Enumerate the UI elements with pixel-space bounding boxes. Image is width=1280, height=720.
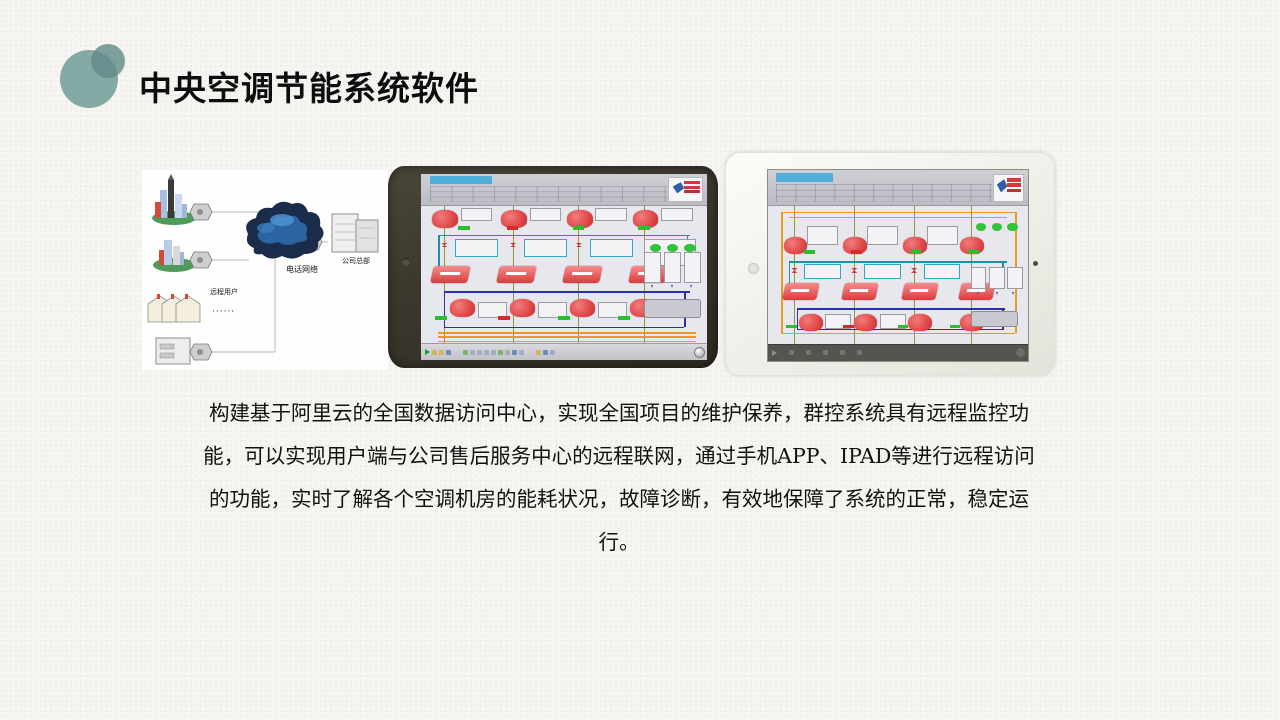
label-cloud: 电话网络 xyxy=(286,264,318,274)
hmi-dial-knob[interactable] xyxy=(694,347,705,358)
run-button[interactable] xyxy=(772,350,777,356)
toolbar-icon-1[interactable] xyxy=(432,350,437,355)
toolbar-icon-11[interactable] xyxy=(512,350,517,355)
toolbar-icon-5[interactable] xyxy=(857,350,862,355)
toolbar-icon-4[interactable] xyxy=(463,350,468,355)
hmi-company-badge xyxy=(993,174,1024,202)
hmi-logo xyxy=(430,176,493,184)
android-tablet-hmi-screenshot xyxy=(388,166,718,368)
remote-access-network-diagram: 电话网络 公司总部 远程用户 ······ xyxy=(142,170,388,370)
toolbar-icon-4[interactable] xyxy=(840,350,845,355)
toolbar-icon-5[interactable] xyxy=(470,350,475,355)
figure-row: 电话网络 公司总部 远程用户 ······ xyxy=(0,0,1280,380)
toolbar-icon-1[interactable] xyxy=(789,350,794,355)
toolbar-icon-2[interactable] xyxy=(439,350,444,355)
ipad-screen[interactable] xyxy=(767,169,1029,362)
hmi-dial-knob[interactable] xyxy=(1015,347,1026,358)
hmi-header-bar xyxy=(421,174,707,206)
toolbar-icon-10[interactable] xyxy=(505,350,510,355)
toolbar-icon-8[interactable] xyxy=(491,350,496,355)
ipad-camera-icon xyxy=(1033,261,1038,266)
label-remote-users: 远程用户 xyxy=(210,287,238,296)
toolbar-icon-7[interactable] xyxy=(484,350,489,355)
hmi-header-grid xyxy=(430,186,667,202)
ipad-home-button[interactable] xyxy=(748,263,759,274)
hmi-logo xyxy=(776,173,833,182)
toolbar-icon-6[interactable] xyxy=(477,350,482,355)
hmi-chiller-plant-diagram xyxy=(421,174,707,360)
toolbar-icon-13[interactable] xyxy=(536,350,541,355)
ipad-hmi-screenshot xyxy=(725,152,1055,376)
toolbar-icon-12[interactable] xyxy=(519,350,524,355)
bird-logo-icon xyxy=(997,179,1008,192)
toolbar-icon-9[interactable] xyxy=(498,350,503,355)
label-headquarters: 公司总部 xyxy=(342,256,370,265)
bird-logo-icon xyxy=(673,182,685,193)
company-headquarters-server xyxy=(332,214,378,252)
toolbar-icon-3[interactable] xyxy=(823,350,828,355)
tablet-home-button[interactable] xyxy=(402,258,410,266)
toolbar-icon-15[interactable] xyxy=(550,350,555,355)
run-button[interactable] xyxy=(425,349,430,355)
hmi-header-bar xyxy=(768,170,1028,206)
ipad-hmi-toolbar[interactable] xyxy=(768,344,1028,361)
hmi-company-badge xyxy=(668,177,702,201)
toolbar-icon-14[interactable] xyxy=(543,350,548,355)
hmi-header-grid xyxy=(776,184,992,202)
tablet-screen[interactable] xyxy=(421,174,707,360)
toolbar-icon-2[interactable] xyxy=(806,350,811,355)
body-paragraph: 构建基于阿里云的全国数据访问中心，实现全国项目的维护保养，群控系统具有远程监控功… xyxy=(196,392,1042,564)
label-ellipsis: ······ xyxy=(212,307,235,317)
hmi-toolbar[interactable] xyxy=(421,343,707,360)
server-site xyxy=(156,338,190,364)
toolbar-icon-3[interactable] xyxy=(446,350,451,355)
hmi-chiller-plant-diagram xyxy=(768,170,1028,361)
